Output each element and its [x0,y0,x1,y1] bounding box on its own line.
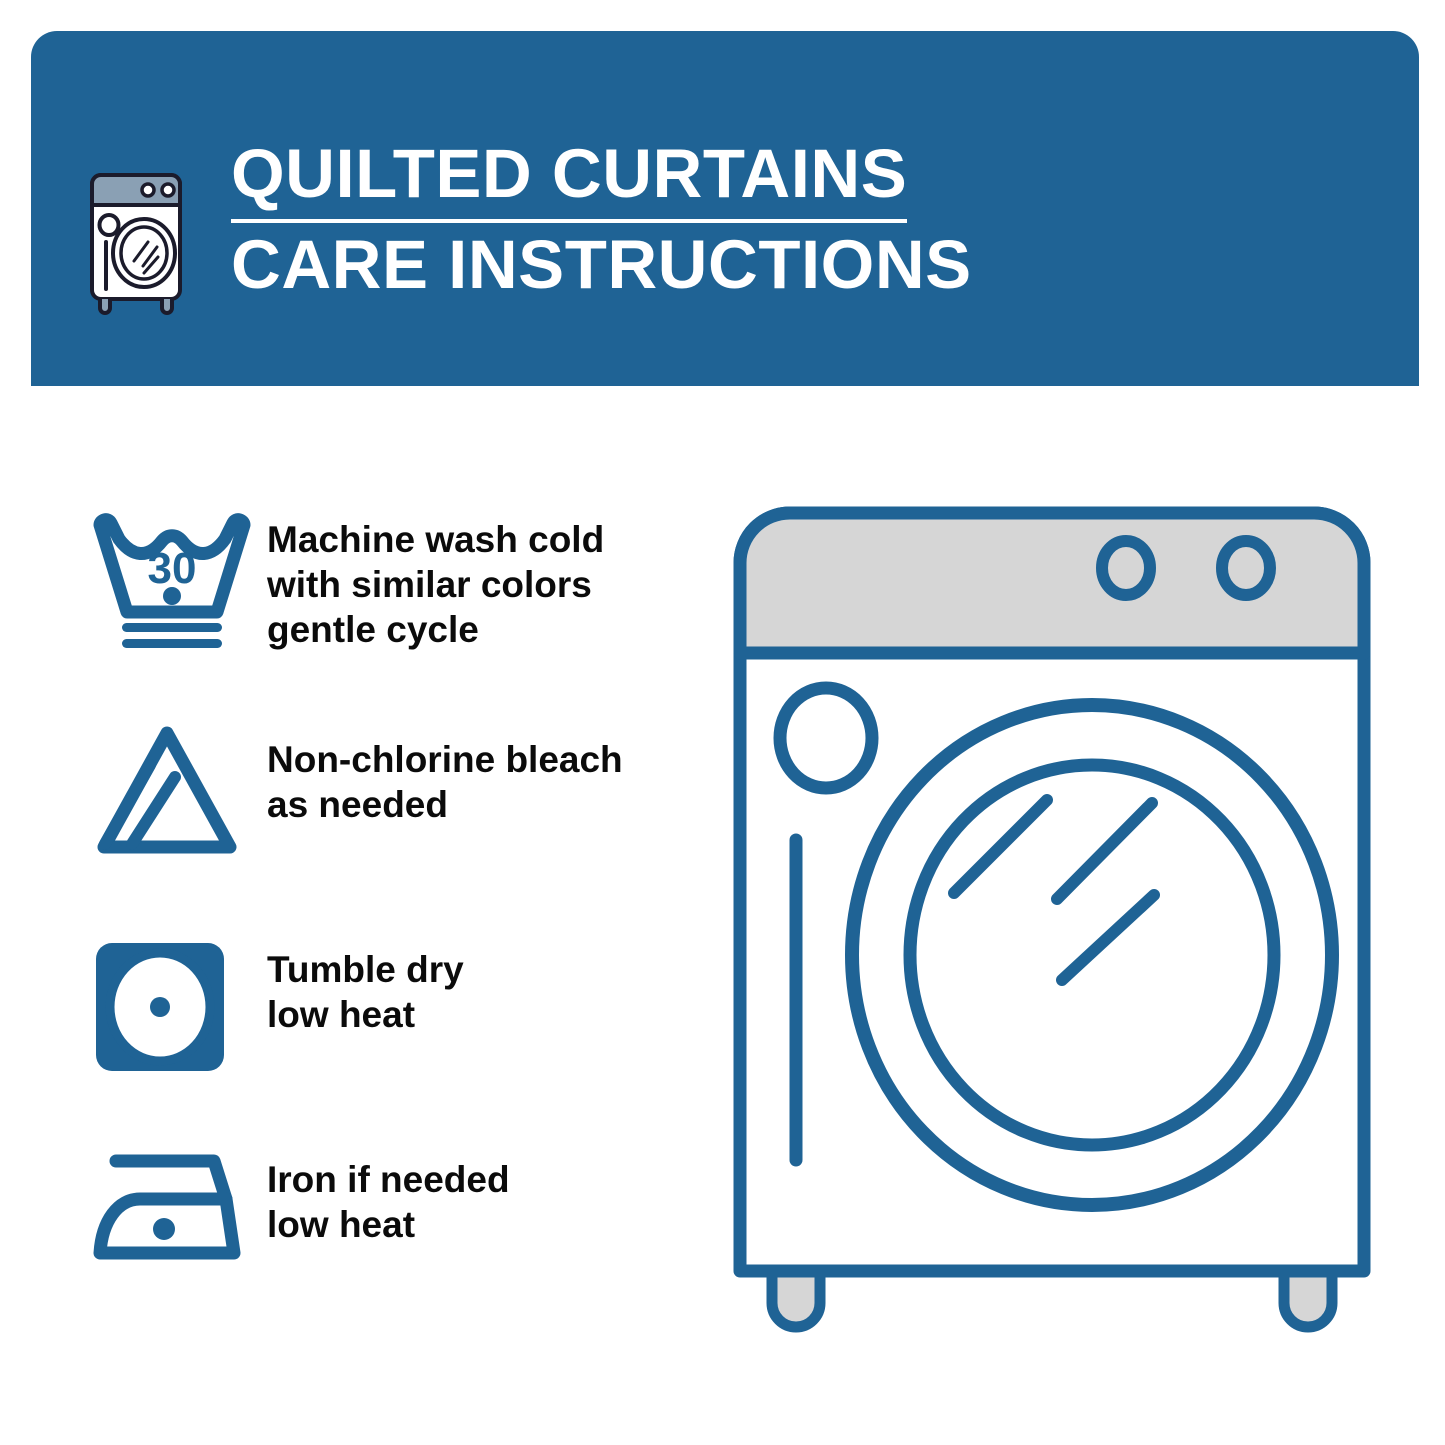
machine-wash-tub-icon: 30 [92,505,267,651]
control-knob-left [1102,541,1150,595]
care-instruction-text-iron: Iron if needed low heat [267,1135,510,1247]
care-instruction-row-wash: 30 Machine wash cold with similar colors… [92,505,692,715]
header-title-block: QUILTED CURTAINS CARE INSTRUCTIONS [231,139,972,301]
care-instruction-row-dry: Tumble dry low heat [92,925,692,1135]
page-title-line-1: QUILTED CURTAINS [231,139,907,216]
care-symbol-list: 30 Machine wash cold with similar colors… [92,505,692,1345]
tumble-dry-low-heat-icon [92,925,267,1075]
care-instruction-text-wash: Machine wash cold with similar colors ge… [267,505,604,652]
control-knob-right [1222,541,1270,595]
wash-temperature-label: 30 [148,544,197,593]
care-instruction-row-bleach: Non-chlorine bleach as needed [92,715,692,925]
header-content: QUILTED CURTAINS CARE INSTRUCTIONS [86,139,972,317]
title-divider [231,219,907,223]
page-title-line-2: CARE INSTRUCTIONS [231,230,972,300]
care-instruction-text-bleach: Non-chlorine bleach as needed [267,715,623,827]
detergent-dispenser-circle [780,688,872,788]
care-instruction-text-dry: Tumble dry low heat [267,925,464,1037]
header-banner: QUILTED CURTAINS CARE INSTRUCTIONS [31,31,1419,386]
washing-machine-icon [86,169,194,317]
care-instruction-row-iron: Iron if needed low heat [92,1135,692,1345]
iron-low-heat-icon [92,1135,267,1269]
non-chlorine-bleach-triangle-icon [92,715,267,861]
front-load-washing-machine-illustration [722,495,1382,1345]
